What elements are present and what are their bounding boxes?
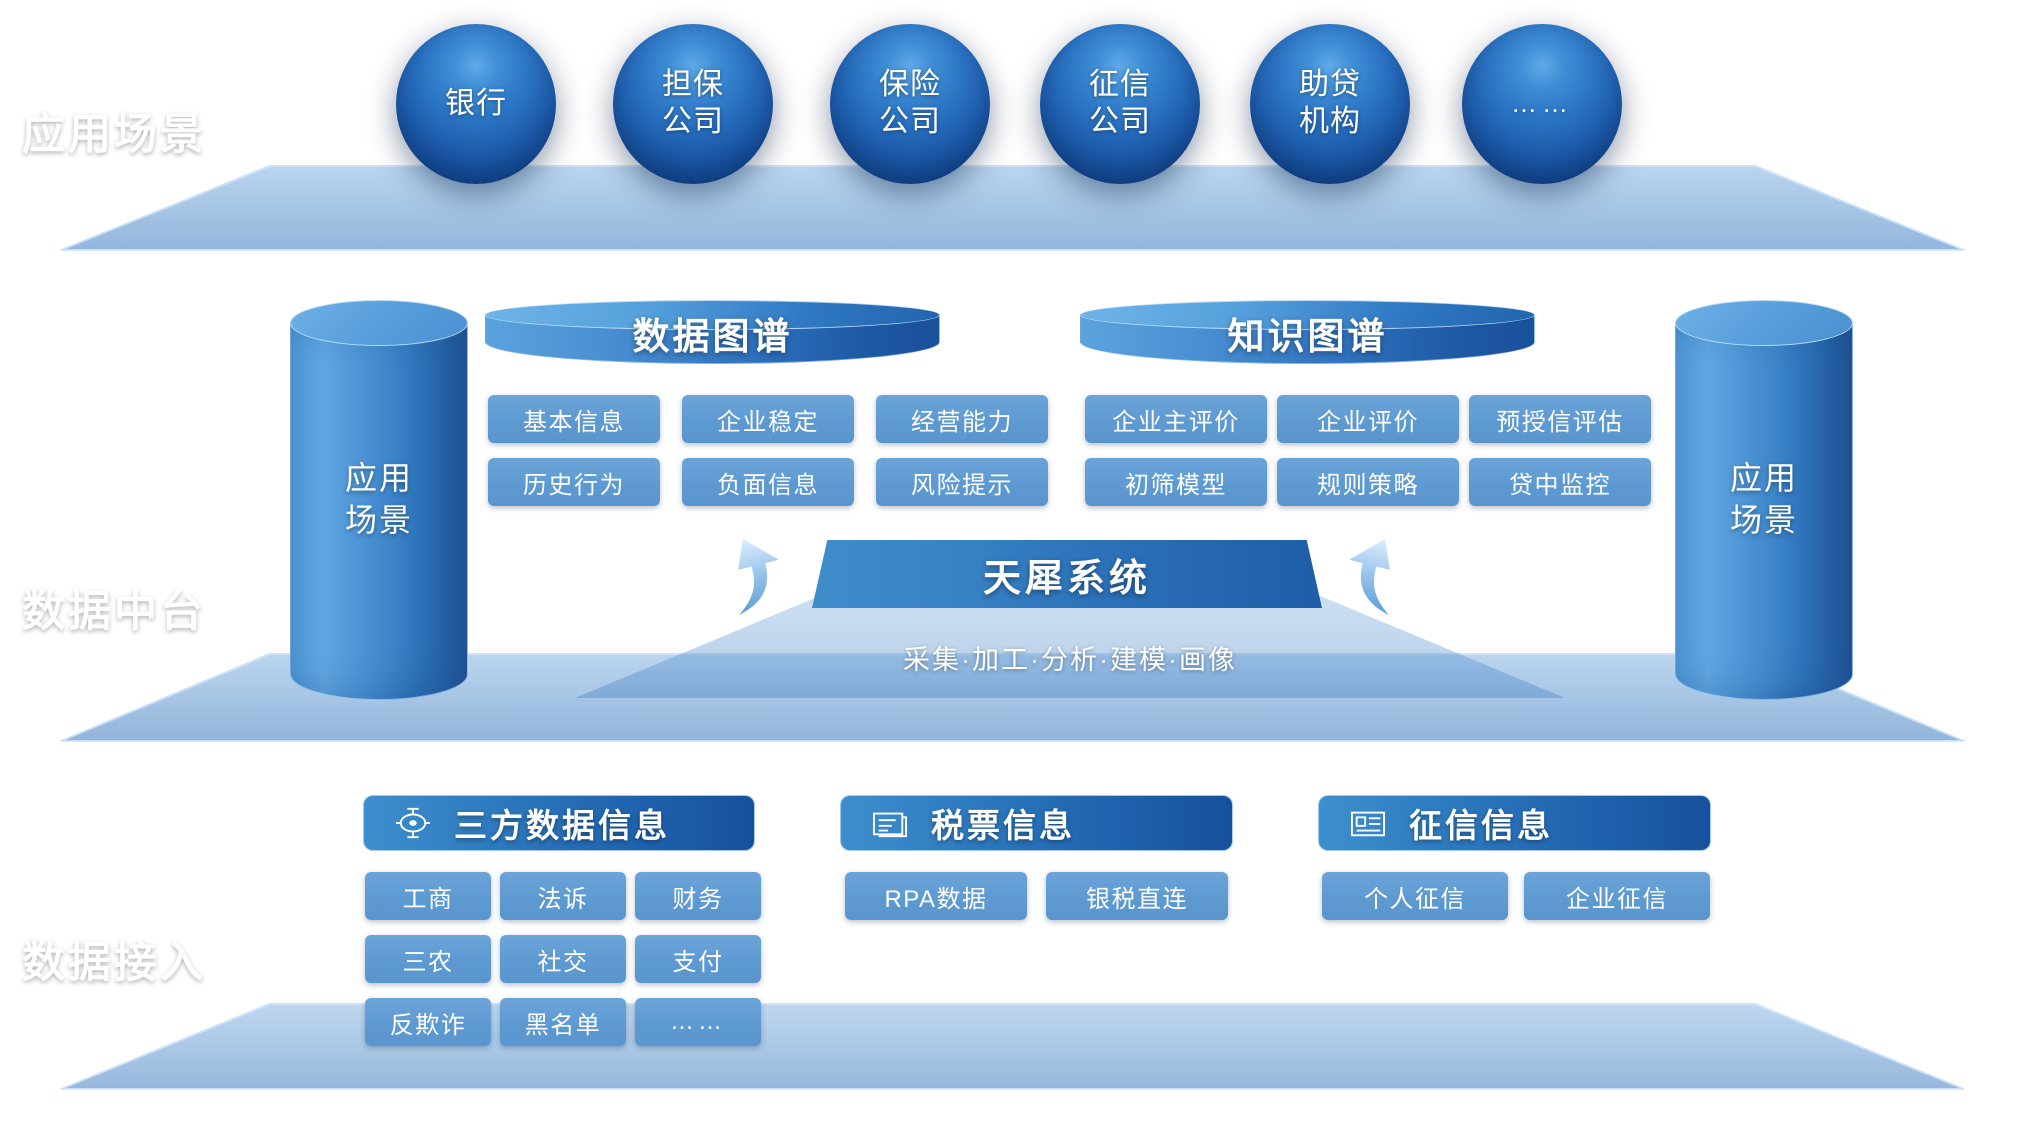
chip-third-party-8[interactable]: …… — [635, 998, 761, 1046]
chip-knowledge-graph-1[interactable]: 企业评价 — [1277, 395, 1459, 443]
sphere-loan-facilitation-agency[interactable]: 助贷 机构 — [1250, 24, 1410, 184]
chip-third-party-4[interactable]: 社交 — [500, 935, 626, 983]
card-title: 税票信息 — [931, 799, 1075, 847]
platform-application-tier — [60, 165, 1965, 250]
sphere-label: 助贷 机构 — [1299, 67, 1361, 140]
chip-third-party-2[interactable]: 财务 — [635, 872, 761, 920]
chip-credit-1[interactable]: 企业征信 — [1524, 872, 1710, 920]
arrow-up-right-icon — [1338, 535, 1416, 617]
disc-knowledge-graph[interactable]: 知识图谱 — [1080, 300, 1535, 364]
sphere-insurance-company[interactable]: 保险 公司 — [830, 24, 990, 184]
card-header-credit-report-data[interactable]: 征信信息 — [1318, 795, 1711, 851]
chip-data-graph-0[interactable]: 基本信息 — [488, 395, 660, 443]
chip-data-graph-2[interactable]: 经营能力 — [876, 395, 1048, 443]
system-subtitle: 采集·加工·分析·建模·画像 — [760, 638, 1380, 677]
system-banner[interactable]: 天犀系统 — [812, 540, 1322, 608]
diagram-canvas: 应用场景 数据中台 数据接入 银行 担保 公司 保险 公司 征信 公司 助贷 机… — [0, 0, 2023, 1105]
chip-third-party-0[interactable]: 工商 — [365, 872, 491, 920]
card-title: 征信信息 — [1409, 799, 1553, 847]
cylinder-right-application-scenario[interactable]: 应用 场景 — [1675, 300, 1853, 700]
chip-tax-1[interactable]: 银税直连 — [1046, 872, 1228, 920]
bottom-white-strip — [0, 1105, 2023, 1130]
chip-third-party-3[interactable]: 三农 — [365, 935, 491, 983]
chip-tax-0[interactable]: RPA数据 — [845, 872, 1027, 920]
disc-data-graph[interactable]: 数据图谱 — [485, 300, 940, 364]
cylinder-top-ellipse — [1675, 300, 1853, 346]
arrow-up-left-icon — [712, 535, 790, 617]
chip-data-graph-3[interactable]: 历史行为 — [488, 458, 660, 506]
tier-label-data-platform: 数据中台 — [22, 577, 206, 639]
tier-label-data-access: 数据接入 — [22, 928, 206, 990]
chip-third-party-7[interactable]: 黑名单 — [500, 998, 626, 1046]
tier-label-application: 应用场景 — [22, 100, 206, 162]
system-title: 天犀系统 — [983, 547, 1151, 602]
sphere-label: 征信 公司 — [1089, 67, 1151, 140]
chip-data-graph-4[interactable]: 负面信息 — [682, 458, 854, 506]
chip-third-party-5[interactable]: 支付 — [635, 935, 761, 983]
sphere-guarantee-company[interactable]: 担保 公司 — [613, 24, 773, 184]
cylinder-label: 应用 场景 — [345, 458, 413, 541]
sphere-label: 保险 公司 — [879, 67, 941, 140]
sphere-bank[interactable]: 银行 — [396, 24, 556, 184]
chip-data-graph-5[interactable]: 风险提示 — [876, 458, 1048, 506]
chip-data-graph-1[interactable]: 企业稳定 — [682, 395, 854, 443]
chip-knowledge-graph-5[interactable]: 贷中监控 — [1469, 458, 1651, 506]
card-header-third-party-data[interactable]: 三方数据信息 — [363, 795, 755, 851]
chip-credit-0[interactable]: 个人征信 — [1322, 872, 1508, 920]
card-header-tax-invoice-data[interactable]: 税票信息 — [840, 795, 1233, 851]
disc-title: 知识图谱 — [1080, 300, 1535, 364]
sphere-more-ellipsis[interactable]: …… — [1462, 24, 1622, 184]
platform-data-access-tier — [60, 1003, 1965, 1089]
chip-third-party-6[interactable]: 反欺诈 — [365, 998, 491, 1046]
chip-knowledge-graph-4[interactable]: 规则策略 — [1277, 458, 1459, 506]
chip-knowledge-graph-0[interactable]: 企业主评价 — [1085, 395, 1267, 443]
cylinder-left-application-scenario[interactable]: 应用 场景 — [290, 300, 468, 700]
sphere-credit-bureau-company[interactable]: 征信 公司 — [1040, 24, 1200, 184]
system-banner-shape: 天犀系统 — [812, 540, 1322, 608]
chip-knowledge-graph-2[interactable]: 预授信评估 — [1469, 395, 1651, 443]
sphere-label: 担保 公司 — [662, 67, 724, 140]
disc-title: 数据图谱 — [485, 300, 940, 364]
sphere-label: 银行 — [445, 86, 507, 123]
card-title: 三方数据信息 — [454, 799, 670, 847]
chip-knowledge-graph-3[interactable]: 初筛模型 — [1085, 458, 1267, 506]
cylinder-top-ellipse — [290, 300, 468, 346]
sphere-label: …… — [1511, 88, 1573, 120]
chip-third-party-1[interactable]: 法诉 — [500, 872, 626, 920]
id-card-icon — [1349, 806, 1387, 840]
cylinder-label: 应用 场景 — [1730, 458, 1798, 541]
invoice-icon — [871, 806, 909, 840]
target-crosshair-icon — [394, 806, 432, 840]
